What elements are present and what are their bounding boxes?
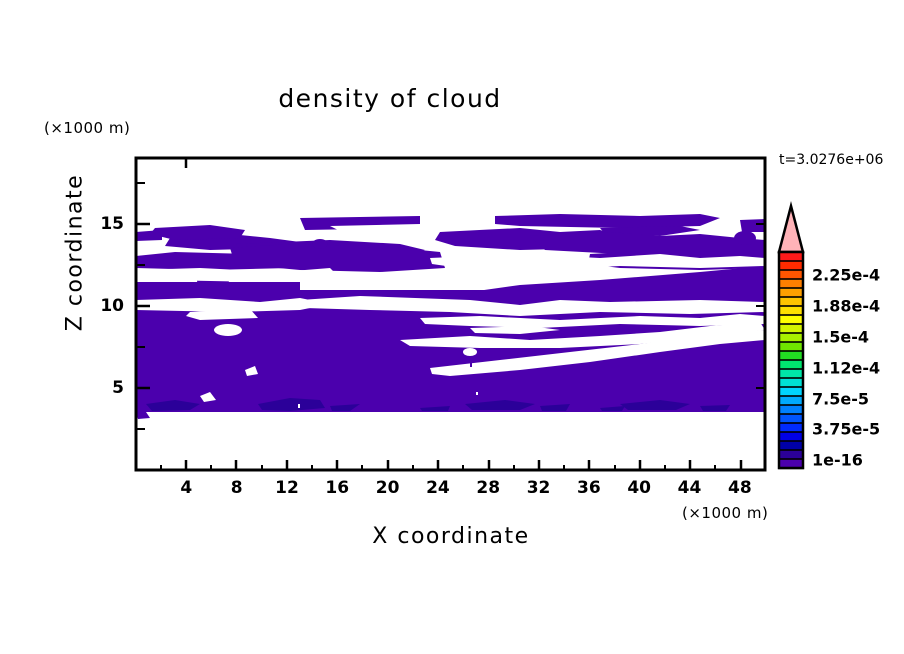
colorbar-band bbox=[779, 342, 803, 351]
x-axis-title: X coordinate bbox=[136, 524, 766, 549]
x-tick-label: 20 bbox=[376, 478, 400, 498]
colorbar-band bbox=[779, 423, 803, 432]
clear-nick-1 bbox=[463, 348, 477, 356]
colorbar-tick-label: 1.5e-4 bbox=[812, 327, 869, 346]
colorbar-band bbox=[779, 432, 803, 441]
colorbar-bands bbox=[779, 252, 803, 468]
cloud-field bbox=[136, 214, 851, 419]
x-tick-label: 44 bbox=[678, 478, 702, 498]
colorbar-band bbox=[779, 261, 803, 270]
x-tick-label: 28 bbox=[476, 478, 500, 498]
colorbar-tick-label: 7.5e-5 bbox=[812, 389, 869, 408]
colorbar-band bbox=[779, 369, 803, 378]
cloud-dot-3 bbox=[734, 231, 756, 245]
x-tick-label: 24 bbox=[426, 478, 450, 498]
colorbar bbox=[779, 206, 803, 468]
streak-1 bbox=[240, 340, 242, 346]
colorbar-band bbox=[779, 387, 803, 396]
x-tick-label: 12 bbox=[275, 478, 299, 498]
x-tick-label: 48 bbox=[728, 478, 752, 498]
colorbar-band bbox=[779, 297, 803, 306]
dense-pocket-9 bbox=[700, 405, 730, 411]
colorbar-band bbox=[779, 333, 803, 342]
x-tick-label: 4 bbox=[180, 478, 192, 498]
colorbar-band bbox=[779, 414, 803, 423]
clear-nick-2 bbox=[214, 324, 242, 336]
y-axis-title: Z coordinate bbox=[63, 153, 88, 353]
colorbar-band bbox=[779, 378, 803, 387]
clear-nick-3 bbox=[681, 302, 699, 310]
colorbar-band bbox=[779, 396, 803, 405]
cloud-patch-topright bbox=[740, 219, 765, 232]
y-tick-label: 15 bbox=[84, 214, 124, 234]
x-axis-units: (×1000 m) bbox=[682, 504, 768, 522]
x-tick-label: 8 bbox=[231, 478, 243, 498]
colorbar-band bbox=[779, 405, 803, 414]
figure-canvas: density of cloud (×1000 m) t=3.0276e+06 bbox=[0, 0, 904, 654]
colorbar-band bbox=[779, 306, 803, 315]
colorbar-tick-label: 1.12e-4 bbox=[812, 358, 880, 377]
colorbar-band bbox=[779, 279, 803, 288]
plot-area bbox=[0, 0, 904, 654]
streak-2 bbox=[470, 362, 472, 367]
colorbar-band bbox=[779, 324, 803, 333]
x-tick-label: 36 bbox=[577, 478, 601, 498]
x-tick-label: 32 bbox=[527, 478, 551, 498]
colorbar-band bbox=[779, 288, 803, 297]
cloud-band-top-2 bbox=[495, 214, 720, 228]
colorbar-band bbox=[779, 252, 803, 261]
colorbar-band bbox=[779, 450, 803, 459]
colorbar-band bbox=[779, 351, 803, 360]
colorbar-tick-label: 1.88e-4 bbox=[812, 297, 880, 316]
colorbar-tick-label: 2.25e-4 bbox=[812, 266, 880, 285]
y-tick-label: 10 bbox=[84, 296, 124, 316]
colorbar-band bbox=[779, 270, 803, 279]
x-tick-label: 40 bbox=[627, 478, 651, 498]
colorbar-tip bbox=[779, 206, 803, 252]
subbase-speck-7 bbox=[476, 392, 478, 395]
x-tick-label: 16 bbox=[325, 478, 349, 498]
colorbar-band bbox=[779, 315, 803, 324]
colorbar-band bbox=[779, 360, 803, 369]
subbase-speck-6 bbox=[298, 404, 300, 408]
y-tick-label: 5 bbox=[84, 378, 124, 398]
cloud-dot-1 bbox=[312, 239, 328, 249]
colorbar-band bbox=[779, 441, 803, 450]
colorbar-tick-label: 1e-16 bbox=[812, 451, 863, 470]
colorbar-tick-label: 3.75e-5 bbox=[812, 420, 880, 439]
